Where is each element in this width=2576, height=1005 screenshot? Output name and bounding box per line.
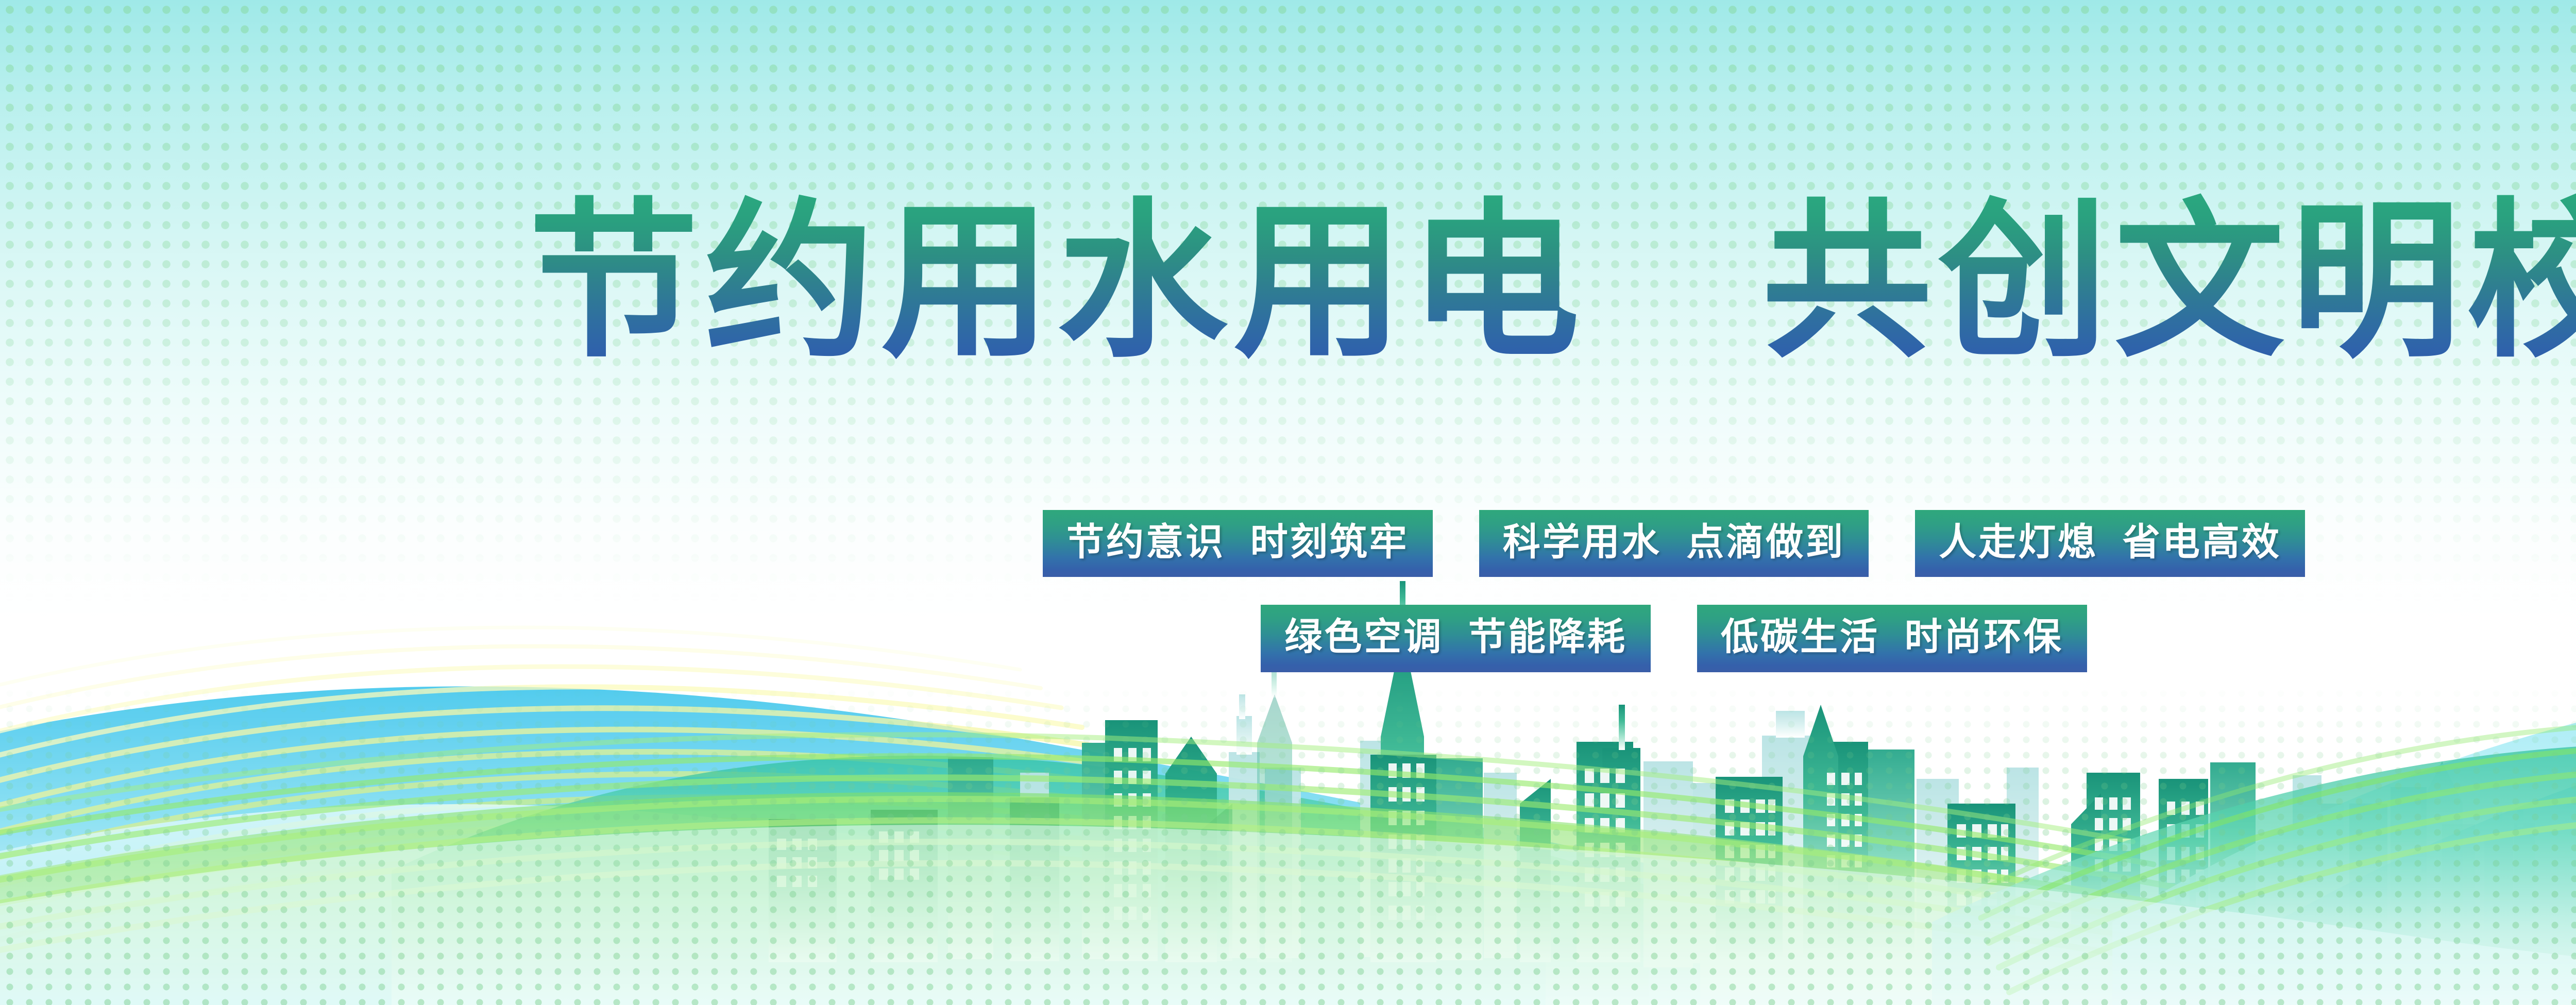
slogan-badge[interactable]: 科学用水 点滴做到 (1479, 510, 1869, 577)
slogan-badge[interactable]: 绿色空调 节能降耗 (1261, 605, 1651, 672)
eco-poster-banner: 节约用水用电 共创文明校园 节约意识 时刻筑牢 科学用水 点滴做到 人走灯熄 省… (0, 0, 2576, 1005)
slogan-badge[interactable]: 低碳生活 时尚环保 (1697, 605, 2087, 672)
main-title-row: 节约用水用电 共创文明校园 (0, 192, 2576, 372)
slogan-badge-row-2: 绿色空调 节能降耗 低碳生活 时尚环保 (1261, 605, 2087, 672)
slogan-badge-groups: 节约意识 时刻筑牢 科学用水 点滴做到 人走灯熄 省电高效 绿色空调 节能降耗 … (0, 510, 2576, 672)
slogan-badge[interactable]: 节约意识 时刻筑牢 (1043, 510, 1433, 577)
page-title: 节约用水用电 共创文明校园 (529, 192, 2576, 372)
slogan-badge[interactable]: 人走灯熄 省电高效 (1915, 510, 2305, 577)
slogan-badge-row-1: 节约意识 时刻筑牢 科学用水 点滴做到 人走灯熄 省电高效 (1043, 510, 2305, 577)
bottom-dot-texture (0, 686, 2576, 1005)
